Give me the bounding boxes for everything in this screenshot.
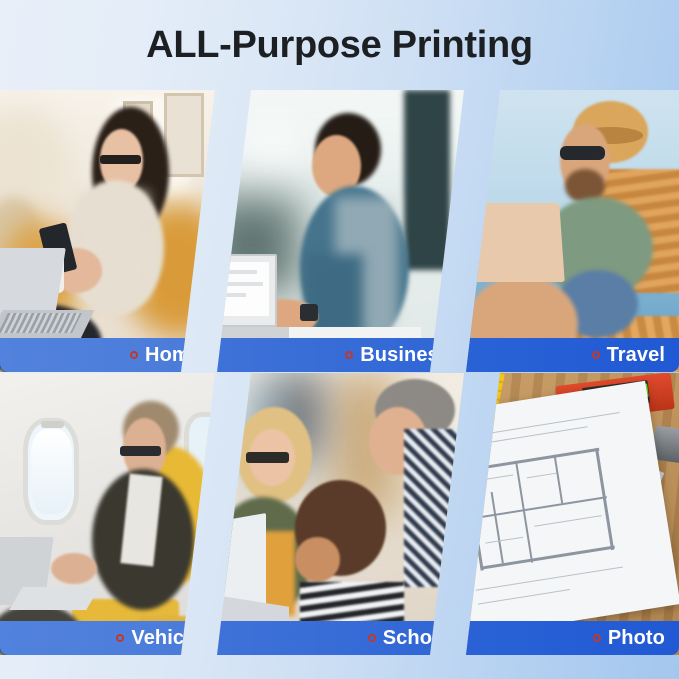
ring-bullet-icon <box>368 634 376 642</box>
photo-business <box>217 90 464 372</box>
panel-label-text-vehicle: Vehicle <box>131 627 201 650</box>
panel-label-text-school: School <box>383 627 450 650</box>
blueprint-paper <box>466 380 679 636</box>
panel-home-inner: Home <box>0 90 215 372</box>
panel-label-text-travel: Travel <box>607 344 665 367</box>
panel-vehicle-inner: Vehicle <box>0 373 215 655</box>
page-title: ALL-Purpose Printing <box>146 26 533 64</box>
ring-bullet-icon <box>592 351 600 359</box>
panel-business[interactable]: Business <box>217 90 464 372</box>
panel-label-home: Home <box>0 338 215 372</box>
photo-home <box>0 90 215 372</box>
photo-school <box>217 373 464 655</box>
panel-row-top: Home <box>0 90 679 372</box>
panel-label-photo: Photo <box>466 621 679 655</box>
panel-travel[interactable]: Travel <box>466 90 679 372</box>
panel-label-text-business: Business <box>360 344 450 367</box>
ring-bullet-icon <box>116 634 124 642</box>
ring-bullet-icon <box>130 351 138 359</box>
panel-label-school: School <box>217 621 464 655</box>
photo-travel <box>466 90 679 372</box>
panel-photo-inner: Photo <box>466 373 679 655</box>
panel-vehicle[interactable]: Vehicle <box>0 373 215 655</box>
panel-label-business: Business <box>217 338 464 372</box>
panel-home[interactable]: Home <box>0 90 215 372</box>
panel-label-text-home: Home <box>145 344 201 367</box>
panel-grid: Home <box>0 90 679 655</box>
banner: ALL-Purpose Printing <box>0 0 679 90</box>
ring-bullet-icon <box>345 351 353 359</box>
panel-row-bottom: Vehicle <box>0 373 679 655</box>
photo-photo <box>466 373 679 655</box>
panel-photo[interactable]: Photo <box>466 373 679 655</box>
panel-travel-inner: Travel <box>466 90 679 372</box>
panel-label-vehicle: Vehicle <box>0 621 215 655</box>
panel-school-inner: School <box>217 373 464 655</box>
ring-bullet-icon <box>593 634 601 642</box>
photo-vehicle <box>0 373 215 655</box>
panel-label-text-photo: Photo <box>608 627 665 650</box>
panel-business-inner: Business <box>217 90 464 372</box>
panel-label-travel: Travel <box>466 338 679 372</box>
panel-school[interactable]: School <box>217 373 464 655</box>
